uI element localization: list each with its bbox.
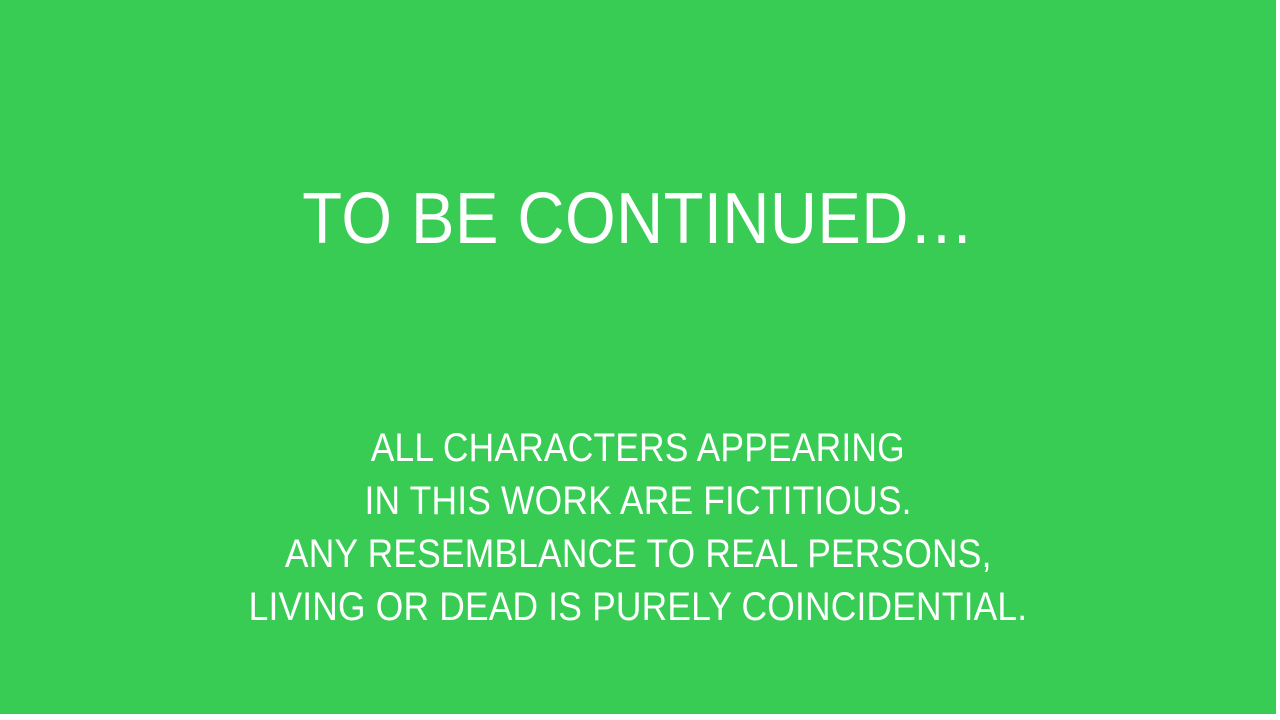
disclaimer-line-text: ALL CHARACTERS APPEARING [371,422,905,475]
disclaimer-line: ANY RESEMBLANCE TO REAL PERSONS, [0,528,1276,581]
page-title: TO BE CONTINUED… [302,183,974,255]
disclaimer-line-text: IN THIS WORK ARE FICTITIOUS. [364,475,911,528]
disclaimer-line: ALL CHARACTERS APPEARING [0,422,1276,475]
disclaimer-block: ALL CHARACTERS APPEARING IN THIS WORK AR… [0,422,1276,634]
slide-canvas: TO BE CONTINUED… ALL CHARACTERS APPEARIN… [0,0,1276,714]
title-block: TO BE CONTINUED… [0,0,1276,255]
disclaimer-line: LIVING OR DEAD IS PURELY COINCIDENTIAL. [0,581,1276,634]
disclaimer-line-text: LIVING OR DEAD IS PURELY COINCIDENTIAL. [249,581,1028,634]
disclaimer-line: IN THIS WORK ARE FICTITIOUS. [0,475,1276,528]
disclaimer-line-text: ANY RESEMBLANCE TO REAL PERSONS, [285,528,992,581]
